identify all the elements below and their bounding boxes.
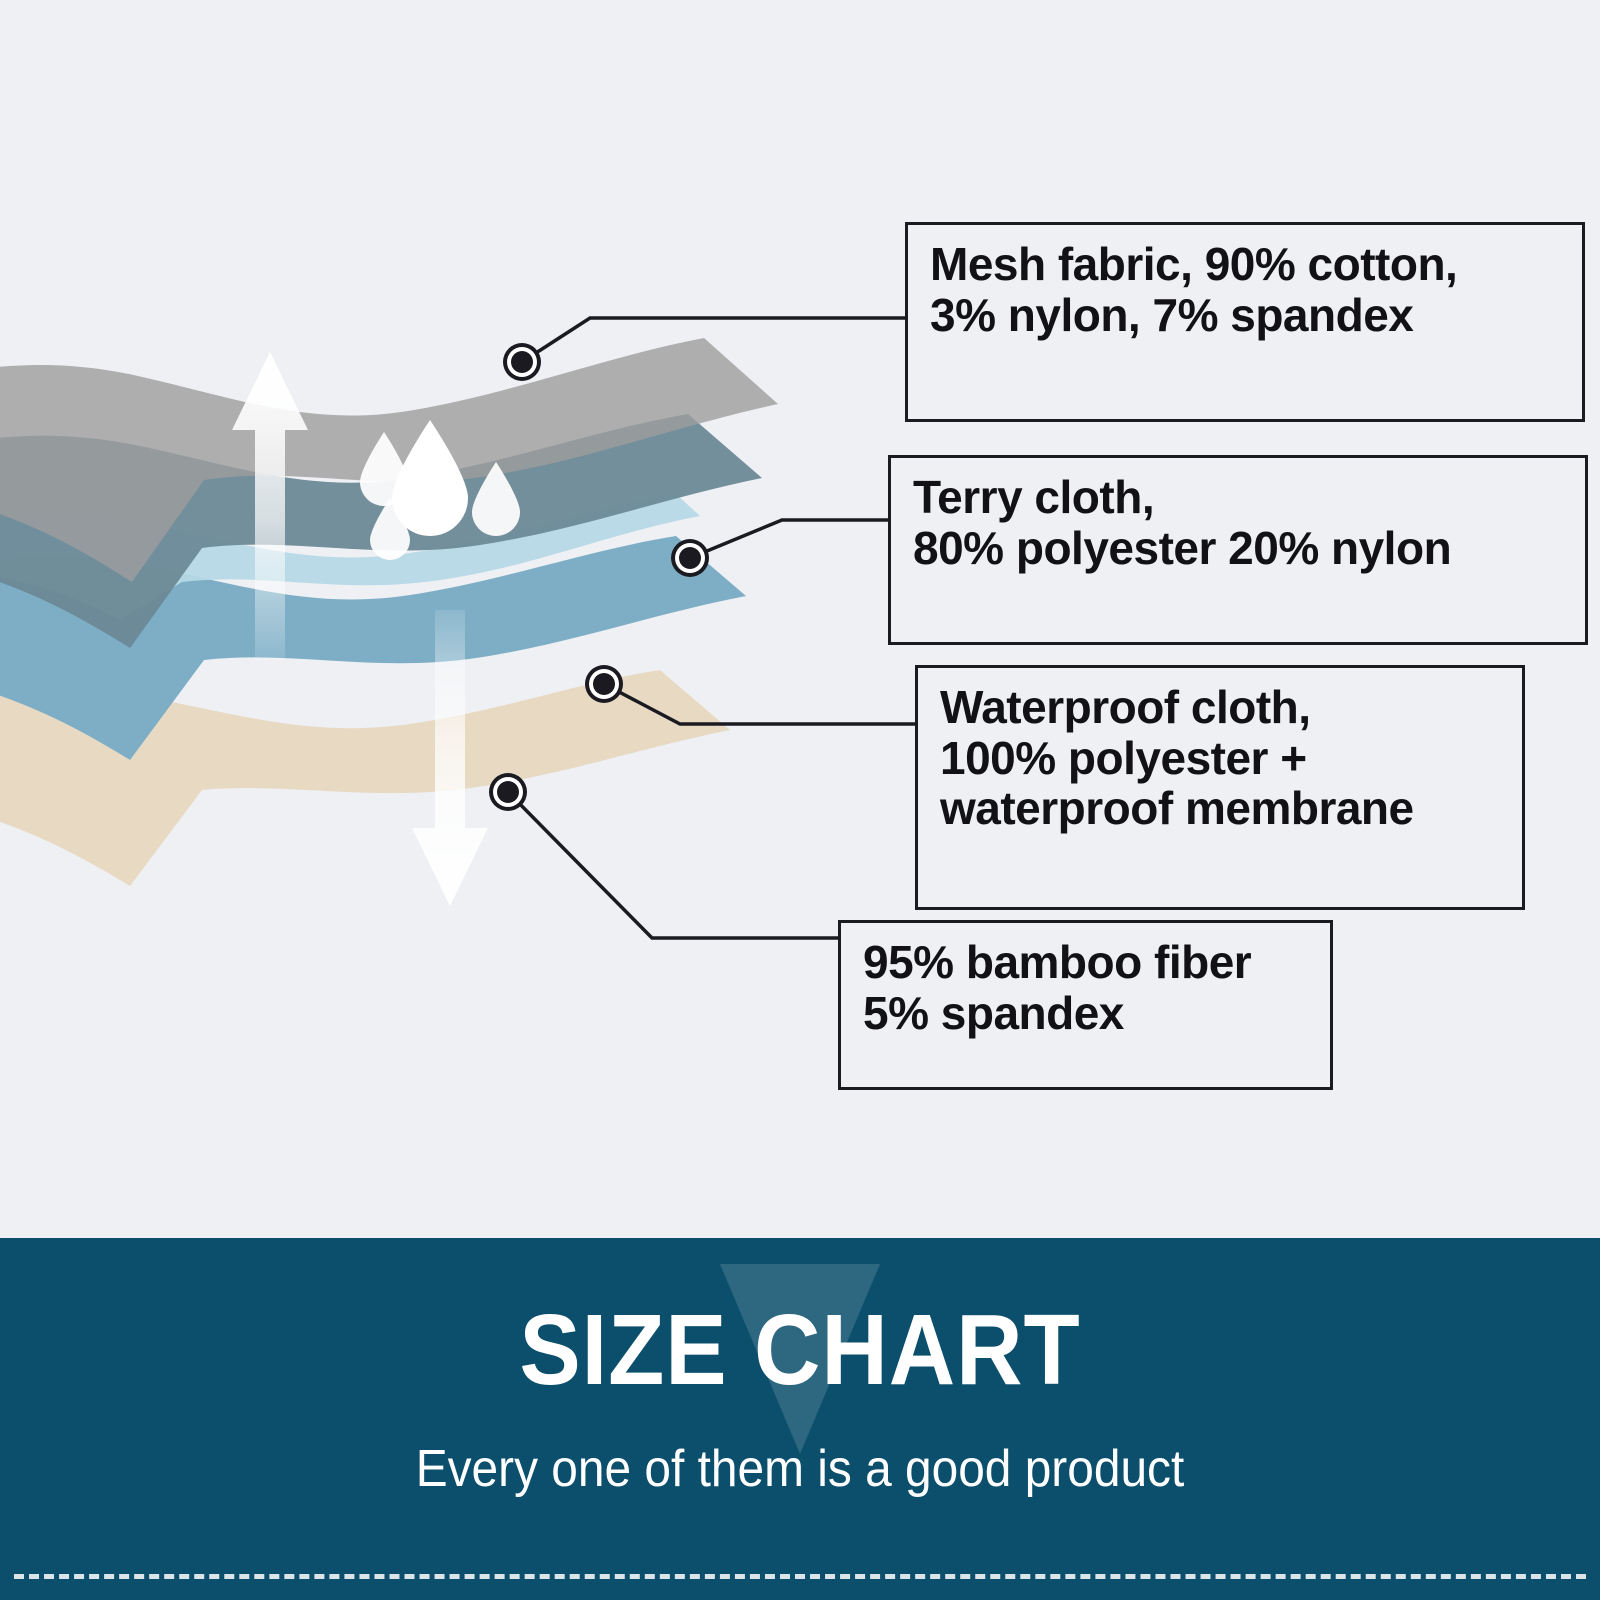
callout-mesh: Mesh fabric, 90% cotton, 3% nylon, 7% sp… [905,222,1585,422]
marker-mesh [503,343,541,381]
leader-line-waterproof [604,684,915,724]
callout-terry: Terry cloth, 80% polyester 20% nylon [888,455,1588,645]
infographic-root: Mesh fabric, 90% cotton, 3% nylon, 7% sp… [0,0,1600,1600]
callout-waterproof: Waterproof cloth, 100% polyester + water… [915,665,1525,910]
leader-line-terry [690,520,888,558]
callout-waterproof-text: Waterproof cloth, 100% polyester + water… [918,668,1414,834]
fabric-illustration-panel: Mesh fabric, 90% cotton, 3% nylon, 7% sp… [0,0,1600,1232]
banner-subtitle: Every one of them is a good product [64,1443,1536,1495]
callout-terry-text: Terry cloth, 80% polyester 20% nylon [891,458,1451,573]
marker-terry [671,539,709,577]
leader-line-mesh [522,318,905,362]
banner-dashed-divider [14,1574,1586,1579]
marker-waterproof [585,665,623,703]
banner-title: SIZE CHART [64,1300,1536,1400]
callout-bamboo-text: 95% bamboo fiber 5% spandex [841,923,1251,1038]
callout-bamboo: 95% bamboo fiber 5% spandex [838,920,1333,1090]
leader-line-bamboo [508,792,838,938]
callout-markers [489,343,709,811]
marker-bamboo [489,773,527,811]
callout-mesh-text: Mesh fabric, 90% cotton, 3% nylon, 7% sp… [908,225,1457,340]
size-chart-banner: SIZE CHART Every one of them is a good p… [0,1238,1600,1600]
